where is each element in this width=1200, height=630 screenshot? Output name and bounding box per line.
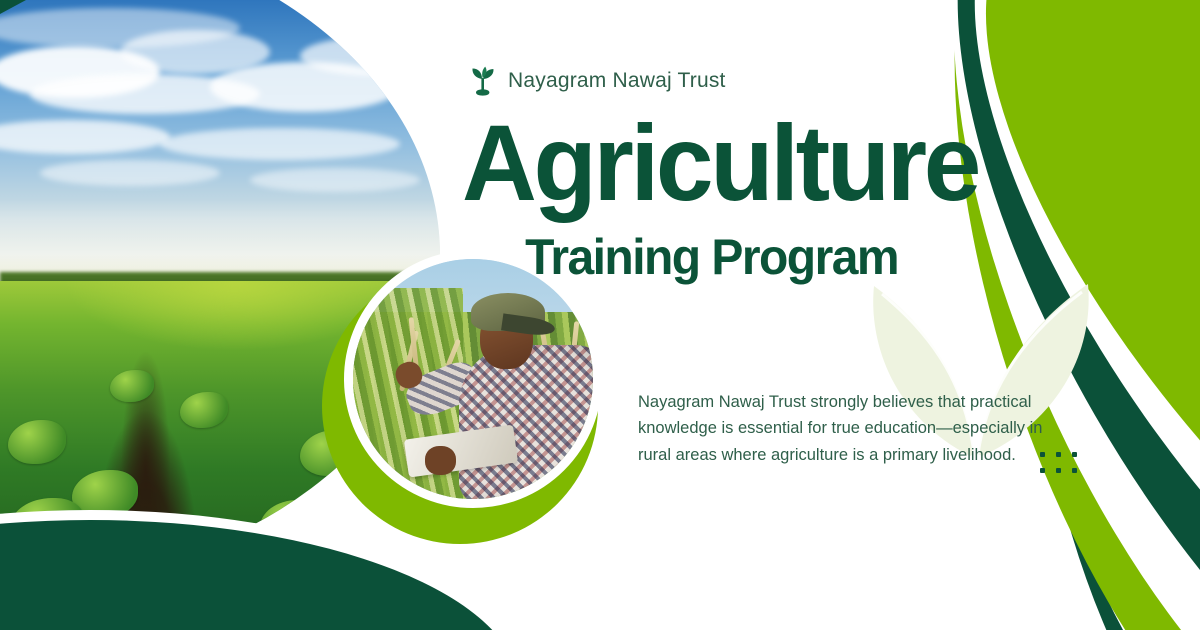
farmer-hand-lower [425,446,456,475]
dot [1072,452,1077,457]
dot [1072,468,1077,473]
bottom-dark-arc [0,520,680,630]
brand-name: Nayagram Nawaj Trust [508,69,726,93]
cloud [160,128,400,160]
cloud [250,168,420,192]
brand-lockup[interactable]: Nayagram Nawaj Trust [470,66,726,96]
farmer-portrait [344,250,602,508]
seedling-icon [470,66,496,96]
cloud [210,62,400,112]
cloud [300,36,460,76]
dot [1056,468,1061,473]
cloud [40,160,220,186]
poster-canvas: Nayagram Nawaj Trust Agriculture Trainin… [0,0,1200,630]
dot-grid-decoration [1040,452,1078,474]
description-text: Nayagram Nawaj Trust strongly believes t… [638,389,1070,469]
farmer-torso [459,345,602,503]
page-title: Agriculture [462,112,961,215]
dot [1056,452,1061,457]
dot [1040,468,1045,473]
page-subtitle: Training Program [462,232,961,282]
dot [1040,452,1045,457]
